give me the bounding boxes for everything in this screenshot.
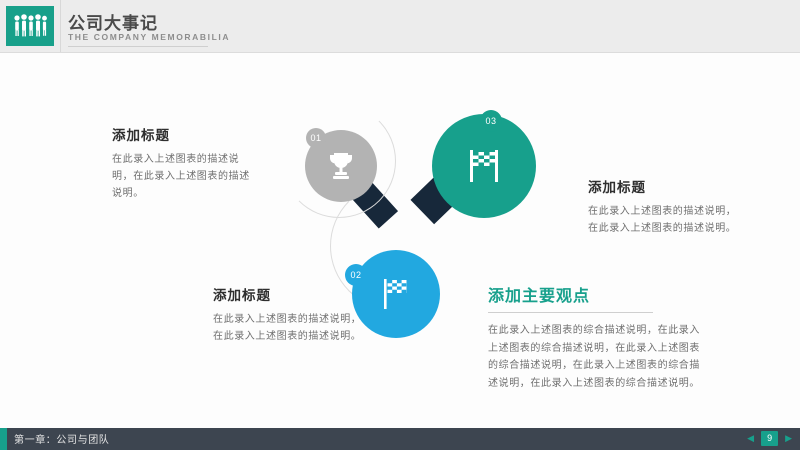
diagram-area: 01 02 xyxy=(0,52,800,420)
summary-heading: 添加主要观点 xyxy=(488,282,710,306)
text-block-2: 添加标题 在此录入上述图表的描述说明，在此录入上述图表的描述说明。 xyxy=(213,284,368,345)
block-2-heading: 添加标题 xyxy=(213,284,368,304)
page-subtitle: THE COMPANY MEMORABILIA xyxy=(68,32,230,42)
logo-box xyxy=(6,6,54,46)
triangle-right-icon[interactable]: ▶ xyxy=(785,434,792,443)
summary-body: 在此录入上述图表的综合描述说明，在此录入上述图表的综合描述说明，在此录入上述图表… xyxy=(488,322,710,392)
node-badge-02: 02 xyxy=(345,264,367,286)
footer-accent-bar xyxy=(0,428,7,450)
title-underline xyxy=(68,46,208,47)
triangle-left-icon[interactable]: ◀ xyxy=(747,434,754,443)
flag-icon xyxy=(381,278,411,310)
block-1-body: 在此录入上述图表的描述说明，在此录入上述图表的描述说明。 xyxy=(112,151,257,202)
footer-navigation[interactable]: ◀ 9 ▶ xyxy=(747,431,792,446)
summary-divider xyxy=(488,312,653,313)
trophy-icon xyxy=(328,151,354,181)
block-2-body: 在此录入上述图表的描述说明，在此录入上述图表的描述说明。 xyxy=(213,311,368,345)
page-title: 公司大事记 xyxy=(68,9,158,34)
footer-chapter-label: 第一章：公司与团队 xyxy=(14,431,109,446)
finish-flag-icon xyxy=(464,146,504,186)
block-1-heading: 添加标题 xyxy=(112,124,257,144)
text-block-3: 添加标题 在此录入上述图表的描述说明，在此录入上述图表的描述说明。 xyxy=(588,176,740,237)
summary-block: 添加主要观点 在此录入上述图表的综合描述说明，在此录入上述图表的综合描述说明，在… xyxy=(488,282,710,392)
slide: 公司大事记 THE COMPANY MEMORABILIA 01 xyxy=(0,0,800,450)
node-badge-03: 03 xyxy=(480,110,502,132)
block-3-body: 在此录入上述图表的描述说明，在此录入上述图表的描述说明。 xyxy=(588,203,740,237)
node-badge-01: 01 xyxy=(306,128,326,148)
people-group-icon xyxy=(13,14,47,38)
block-3-heading: 添加标题 xyxy=(588,176,740,196)
page-number: 9 xyxy=(761,431,778,446)
header-vertical-divider xyxy=(60,0,61,52)
slide-footer xyxy=(0,428,800,450)
text-block-1: 添加标题 在此录入上述图表的描述说明，在此录入上述图表的描述说明。 xyxy=(112,124,257,202)
